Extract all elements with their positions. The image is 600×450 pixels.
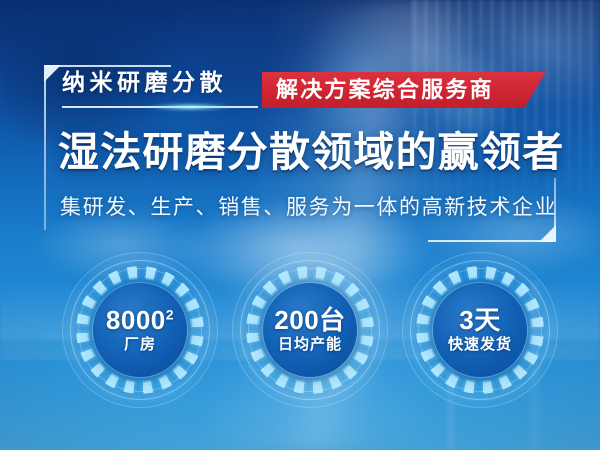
badge-value: 200台 <box>274 306 345 334</box>
headline: 湿法研磨分散领域的赢领者 <box>58 126 564 178</box>
stat-badges: 80002 厂房 200台 日均产能 3天 快速发货 <box>0 252 600 412</box>
badge-text-group: 80002 厂房 <box>93 283 187 377</box>
frame-bottom-line <box>428 240 556 242</box>
eyebrow-row: 纳米研磨分散 解决方案综合服务商 <box>0 64 600 116</box>
badge-label: 厂房 <box>124 335 156 355</box>
eyebrow-text: 纳米研磨分散 <box>62 64 227 100</box>
badge-value: 80002 <box>106 306 174 334</box>
stat-badge-factory: 80002 厂房 <box>62 252 218 408</box>
eyebrow-light-flare <box>130 100 250 114</box>
badge-value-number: 3天 <box>459 305 500 335</box>
subheadline: 集研发、生产、销售、服务为一体的高新技术企业 <box>60 192 557 224</box>
badge-value-number: 200台 <box>274 305 345 335</box>
red-ribbon-text: 解决方案综合服务商 <box>276 72 536 108</box>
badge-value-number: 8000 <box>106 305 166 335</box>
badge-text-group: 3天 快速发货 <box>433 283 527 377</box>
badge-value-superscript: 2 <box>166 306 174 322</box>
badge-value: 3天 <box>459 306 500 334</box>
badge-label: 日均产能 <box>278 335 342 355</box>
badge-text-group: 200台 日均产能 <box>263 283 357 377</box>
stat-badge-shipping: 3天 快速发货 <box>402 252 558 408</box>
promo-banner: 纳米研磨分散 解决方案综合服务商 湿法研磨分散领域的赢领者 集研发、生产、销售、… <box>0 0 600 450</box>
badge-label: 快速发货 <box>448 335 512 355</box>
stat-badge-capacity: 200台 日均产能 <box>232 252 388 408</box>
